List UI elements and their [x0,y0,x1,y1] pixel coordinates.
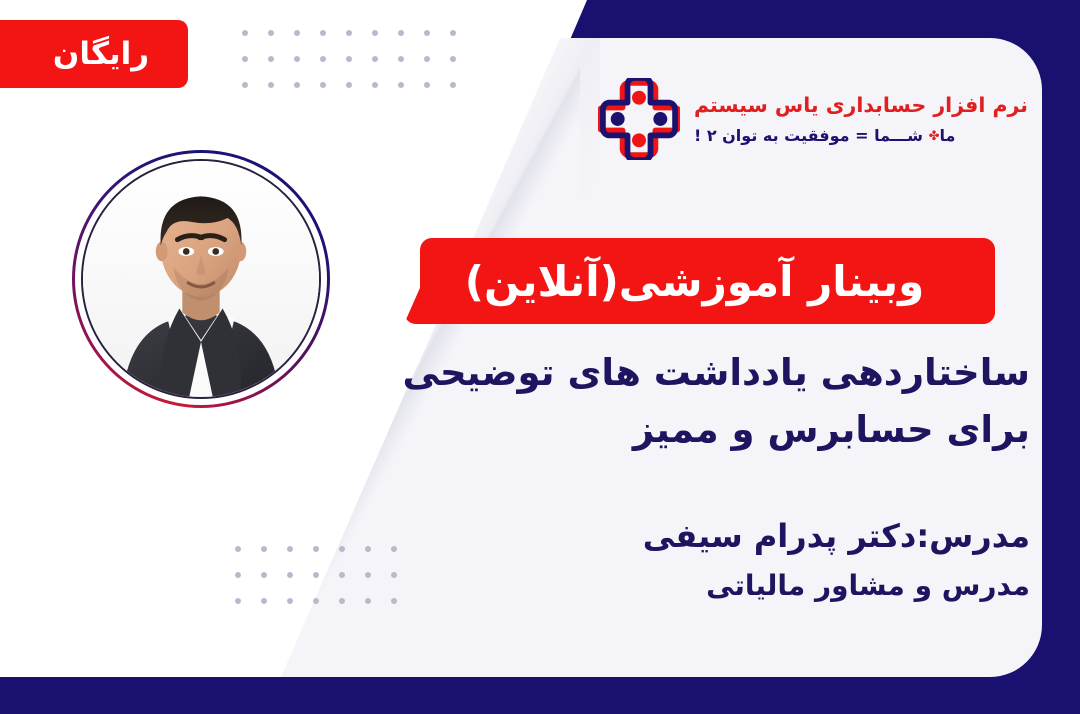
decor-dot [424,30,430,36]
decor-dot [320,56,326,62]
decor-dot [287,572,293,578]
plus-icon: ✤ [929,129,940,144]
decor-dot [287,598,293,604]
decor-dot [242,56,248,62]
decor-dot [313,546,319,552]
decor-dot [339,598,345,604]
decor-dot [424,56,430,62]
webinar-subtitle-line-1: ساختاردهی یادداشت های توضیحی [350,344,1030,401]
presenter-avatar [72,150,330,408]
webinar-banner-title: وبینار آموزشی(آنلاین) [404,238,995,324]
decor-dot [268,56,274,62]
decor-dot [398,82,404,88]
background-navy-bottom-bar [0,677,1080,714]
decor-dot [450,30,456,36]
webinar-subtitle-line-2: برای حسابرس و ممیز [350,401,1030,458]
free-badge-label: رایگان [53,36,149,72]
yas-system-cross-logo-icon [598,78,680,160]
brand-logo-text: نرم افزار حسابداری یاس سیستم ما✤ شـــما … [694,91,1028,147]
decor-dot [346,56,352,62]
decor-dot [339,546,345,552]
decor-dot [424,82,430,88]
decor-dot [313,572,319,578]
brand-logo-tagline-after: شـــما = موفقیت به توان ۲ ! [694,126,923,145]
decor-dot [372,82,378,88]
webinar-subtitle: ساختاردهی یادداشت های توضیحی برای حسابرس… [350,344,1030,459]
brand-logo-title: نرم افزار حسابداری یاس سیستم [694,91,1028,121]
decor-dot [313,598,319,604]
decor-dot [235,598,241,604]
decor-dot [372,56,378,62]
decor-dot [339,572,345,578]
decor-dot [398,30,404,36]
decor-dot [242,82,248,88]
decor-dot [320,30,326,36]
decor-dot [294,82,300,88]
dot-grid-top [222,30,456,108]
decor-dot [235,572,241,578]
presenter-name: مدرس:دکتر پدرام سیفی [350,512,1030,560]
decor-dot [268,30,274,36]
decor-dot [261,546,267,552]
free-badge: رایگان [0,20,188,88]
brand-logo-tagline-before: ما [939,126,955,145]
presenter-photo [83,161,319,397]
decor-dot [261,572,267,578]
brand-logo-tagline: ما✤ شـــما = موفقیت به توان ۲ ! [694,124,1028,147]
avatar-inner-ring [81,159,321,399]
decor-dot [294,30,300,36]
presenter-role: مدرس و مشاور مالیاتی [350,564,1030,609]
decor-dot [287,546,293,552]
brand-logo: نرم افزار حسابداری یاس سیستم ما✤ شـــما … [598,78,1028,160]
decor-dot [268,82,274,88]
decor-dot [450,56,456,62]
decor-dot [294,56,300,62]
webinar-poster: رایگان نرم افزار حسابداری یاس سیستم ما✤ … [0,0,1080,714]
presenter-info: مدرس:دکتر پدرام سیفی مدرس و مشاور مالیات… [350,512,1030,609]
decor-dot [235,546,241,552]
decor-dot [450,82,456,88]
decor-dot [261,598,267,604]
decor-dot [320,82,326,88]
decor-dot [346,30,352,36]
decor-dot [346,82,352,88]
decor-dot [372,30,378,36]
decor-dot [242,30,248,36]
decor-dot [398,56,404,62]
